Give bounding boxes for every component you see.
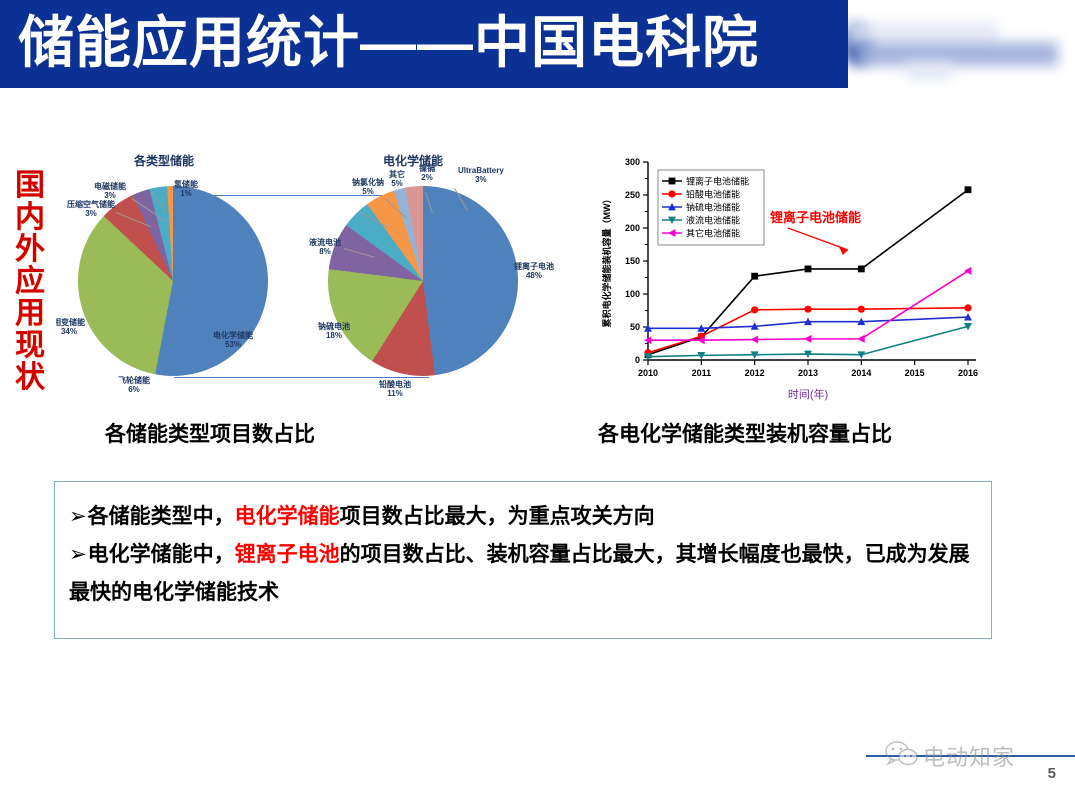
pie-label-compressed-air-value: 3%	[85, 209, 97, 218]
line-chart-figure: 0501001502002503002010201120122013201420…	[596, 148, 986, 410]
svg-text:300: 300	[625, 157, 640, 167]
conclusion-1-text-part2: 项目数占比最大，为重点攻关方向	[340, 505, 655, 528]
pie-charts-figure: 各类型储能 电化学储能 电磁储能 3% 氢储能 1% 压缩空气储能3% 相变储能…	[56, 150, 571, 408]
pie-label-lead-acid-name: 铅酸电池	[379, 380, 411, 389]
page-number: 5	[1048, 765, 1056, 782]
pie-left-title: 各类型储能	[134, 152, 194, 169]
watermark-text: 电动知家	[923, 740, 1015, 772]
pie-label-nicd-value: 2%	[419, 173, 435, 182]
section-vertical-heading: 国内外应用现状	[10, 170, 50, 394]
pie-label-phase-change-value: 34%	[56, 327, 85, 336]
pie-label-compressed-air: 压缩空气储能3%	[64, 200, 118, 218]
pie-label-ultrabattery-name: UltraBattery	[458, 166, 504, 175]
pie-label-other: 其它 5%	[389, 170, 405, 188]
wechat-icon	[885, 741, 919, 772]
pie-connector-line-bottom	[174, 377, 429, 378]
pie-label-electromagnetic-name: 电磁储能	[94, 182, 126, 191]
svg-text:100: 100	[625, 289, 640, 299]
chart-legend: 锂离子电池储能铅酸电池储能钠硫电池储能液流电池储能其它电池储能	[658, 170, 764, 245]
pie-label-flow-battery: 液流电池 8%	[309, 238, 341, 256]
pie-label-sodium-nickel-chloride-name: 钠氯化钠	[352, 178, 384, 187]
pie-label-hydrogen: 氢储能 1%	[174, 180, 198, 198]
pie-label-lithium-ion-value: 48%	[514, 271, 554, 280]
pie-label-flow-battery-name: 液流电池	[309, 238, 341, 247]
pie-label-electrochemical-value: 53%	[213, 340, 253, 349]
pie-label-electrochemical: 电化学储能 53%	[213, 331, 253, 349]
svg-text:2016: 2016	[958, 368, 978, 378]
conclusion-bullet-1: ➢各储能类型中，电化学储能项目数占比最大，为重点攻关方向	[69, 498, 977, 536]
bullet-marker-icon-2: ➢	[69, 543, 87, 566]
svg-text:2013: 2013	[798, 368, 818, 378]
pie-label-lithium-ion: 锂离子电池 48%	[514, 262, 554, 280]
logo-blur-shape-4	[906, 62, 952, 80]
svg-text:2010: 2010	[638, 368, 658, 378]
svg-text:200: 200	[625, 223, 640, 233]
pie-label-flywheel: 飞轮储能 6%	[118, 376, 150, 394]
pie-label-other-name: 其它	[389, 170, 405, 179]
svg-text:2012: 2012	[745, 368, 765, 378]
pie-label-sodium-sulfur: 钠硫电池 18%	[318, 322, 350, 340]
pie-label-flywheel-value: 6%	[118, 385, 150, 394]
conclusion-1-text-part1: 各储能类型中，	[88, 505, 235, 528]
pie-label-lead-acid-value: 11%	[379, 389, 411, 398]
svg-text:2015: 2015	[905, 368, 925, 378]
svg-text:时间(年): 时间(年)	[788, 387, 828, 401]
svg-text:钠硫电池储能: 钠硫电池储能	[686, 201, 740, 212]
figure-caption-right: 各电化学储能类型装机容量占比	[598, 418, 892, 448]
pie-label-lithium-ion-name: 锂离子电池	[514, 262, 554, 271]
svg-text:锂离子电池储能: 锂离子电池储能	[686, 175, 749, 186]
pie-label-other-value: 5%	[389, 179, 405, 188]
conclusion-2-text-part1: 电化学储能中，	[88, 543, 235, 566]
conclusions-box: ➢各储能类型中，电化学储能项目数占比最大，为重点攻关方向 ➢电化学储能中，锂离子…	[54, 481, 992, 639]
svg-text:250: 250	[625, 190, 640, 200]
chart-annotation: 锂离子电池储能	[770, 210, 861, 255]
pie-label-electromagnetic: 电磁储能 3%	[94, 182, 126, 200]
pie-label-ultrabattery-value: 3%	[458, 175, 504, 184]
pie-label-phase-change-name: 相变储能	[56, 318, 85, 327]
header-banner: 储能应用统计——中国电科院	[0, 0, 848, 88]
footer-watermark: 电动知家	[885, 735, 1060, 777]
bullet-marker-icon: ➢	[69, 505, 87, 528]
svg-text:50: 50	[630, 322, 640, 332]
svg-text:150: 150	[625, 256, 640, 266]
pie-label-sodium-nickel-chloride-value: 5%	[352, 187, 384, 196]
pie-label-sodium-sulfur-value: 18%	[318, 331, 350, 340]
pie-label-sodium-nickel-chloride: 钠氯化钠 5%	[352, 178, 384, 196]
pie-label-flow-battery-value: 8%	[309, 247, 341, 256]
svg-text:锂离子电池储能: 锂离子电池储能	[770, 210, 861, 225]
pie-label-hydrogen-value: 1%	[174, 189, 198, 198]
figure-caption-left: 各储能类型项目数占比	[105, 418, 315, 448]
svg-text:铅酸电池储能: 铅酸电池储能	[686, 188, 740, 199]
pie-label-lead-acid: 铅酸电池 11%	[379, 380, 411, 398]
pie-label-flywheel-name: 飞轮储能	[118, 376, 150, 385]
svg-text:累积电化学储能装机容量（MW）: 累积电化学储能装机容量（MW）	[601, 195, 612, 328]
logo-blur-shape-3	[858, 42, 1058, 66]
svg-text:其它电池储能: 其它电池储能	[686, 227, 740, 238]
pie-label-compressed-air-name: 压缩空气储能	[67, 200, 115, 209]
pie-label-phase-change: 相变储能 34%	[56, 318, 85, 336]
pie-chart-electrochemical-types	[328, 186, 518, 376]
pie-label-nicd-name: 镍镉	[419, 164, 435, 173]
conclusion-1-highlight: 电化学储能	[235, 505, 340, 528]
svg-text:2011: 2011	[692, 368, 712, 378]
pie-label-sodium-sulfur-name: 钠硫电池	[318, 322, 350, 331]
pie-label-nicd: 镍镉 2%	[419, 164, 435, 182]
svg-text:0: 0	[635, 355, 640, 365]
pie-label-hydrogen-name: 氢储能	[174, 180, 198, 189]
pie-label-electromagnetic-value: 3%	[94, 191, 126, 200]
institute-logo-blurred	[848, 0, 1075, 88]
page-title: 储能应用统计——中国电科院	[18, 8, 759, 78]
conclusion-2-highlight: 锂离子电池	[235, 543, 340, 566]
svg-text:2014: 2014	[851, 368, 871, 378]
pie-label-electrochemical-name: 电化学储能	[213, 331, 253, 340]
pie-label-ultrabattery: UltraBattery 3%	[458, 166, 504, 184]
svg-text:液流电池储能: 液流电池储能	[686, 214, 740, 225]
conclusion-bullet-2: ➢电化学储能中，锂离子电池的项目数占比、装机容量占比最大，其增长幅度也最快，已成…	[69, 536, 977, 612]
line-chart-svg: 0501001502002503002010201120122013201420…	[596, 148, 986, 410]
logo-blur-shape-2	[848, 22, 998, 44]
